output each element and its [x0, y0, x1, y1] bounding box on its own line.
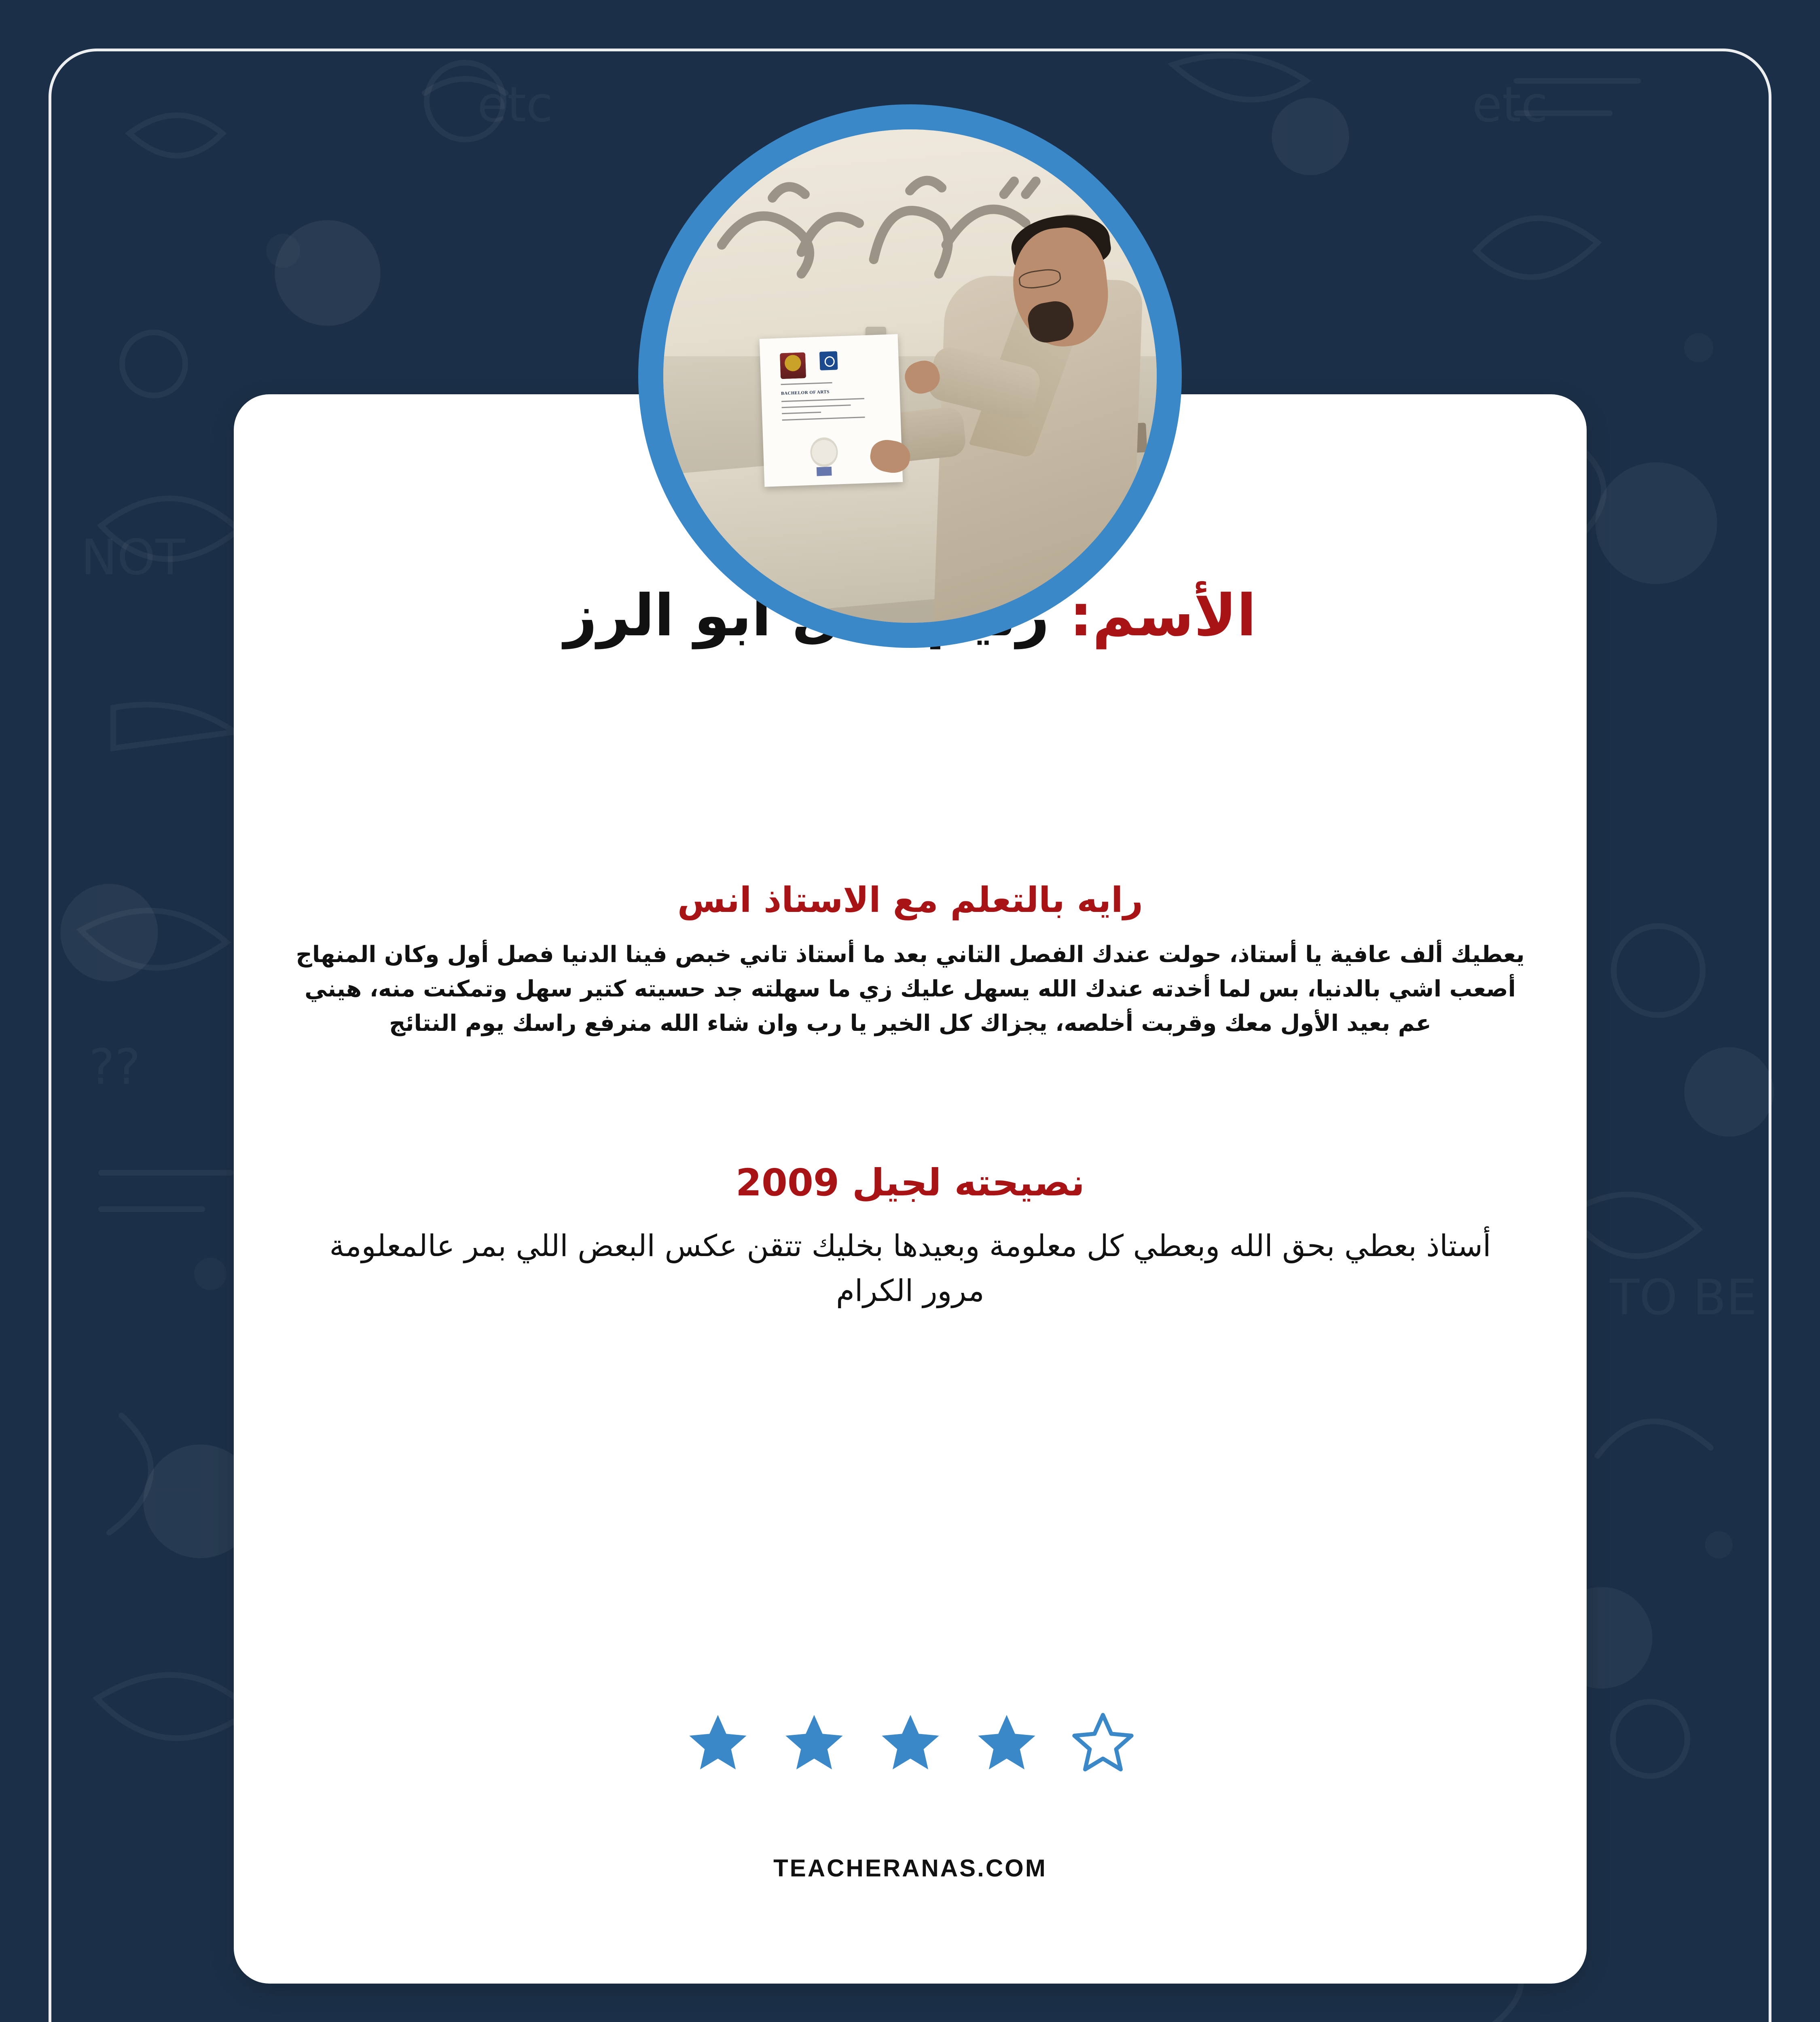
star-filled-icon [974, 1711, 1039, 1775]
section-opinion: رايه بالتعلم مع الاستاذ انس يعطيك ألف عا… [294, 880, 1526, 1041]
star-filled-icon [782, 1711, 847, 1775]
avatar-photo: BACHELOR OF ARTS [663, 129, 1157, 623]
section-advice: نصيحته لجيل 2009 أستاذ بعطي بحق الله وبع… [294, 1161, 1526, 1313]
advice-body: أستاذ بعطي بحق الله وبعطي كل معلومة وبعي… [294, 1224, 1526, 1313]
photo-background: BACHELOR OF ARTS [663, 129, 1157, 623]
star-filled-icon [686, 1711, 750, 1775]
star-filled-icon [878, 1711, 943, 1775]
avatar: BACHELOR OF ARTS [638, 104, 1182, 648]
star-rating [234, 1711, 1587, 1775]
certificate-degree: BACHELOR OF ARTS [781, 388, 880, 396]
star-empty-icon [1071, 1711, 1135, 1775]
certificate-stamp-icon [817, 467, 832, 476]
svg-text:NOT: NOT [81, 530, 185, 586]
certificate-seal-icon [810, 437, 838, 468]
opinion-body: يعطيك ألف عافية يا أستاذ، حولت عندك الفص… [294, 937, 1526, 1041]
open-university-logo-icon [819, 351, 838, 370]
testimonial-poster: etc etc NOT TO BE OK NOT OK NOT ?? الأسم… [0, 0, 1820, 2022]
website-footer: TEACHERANAS.COM [234, 1854, 1587, 1882]
svg-text:etc: etc [1472, 77, 1548, 133]
svg-text:TO BE: TO BE [1609, 1270, 1757, 1326]
advice-heading: نصيحته لجيل 2009 [294, 1161, 1526, 1205]
svg-text:??: ?? [89, 1039, 140, 1096]
opinion-heading: رايه بالتعلم مع الاستاذ انس [294, 880, 1526, 921]
royal-crest-icon [780, 352, 806, 379]
svg-text:etc: etc [477, 77, 553, 133]
